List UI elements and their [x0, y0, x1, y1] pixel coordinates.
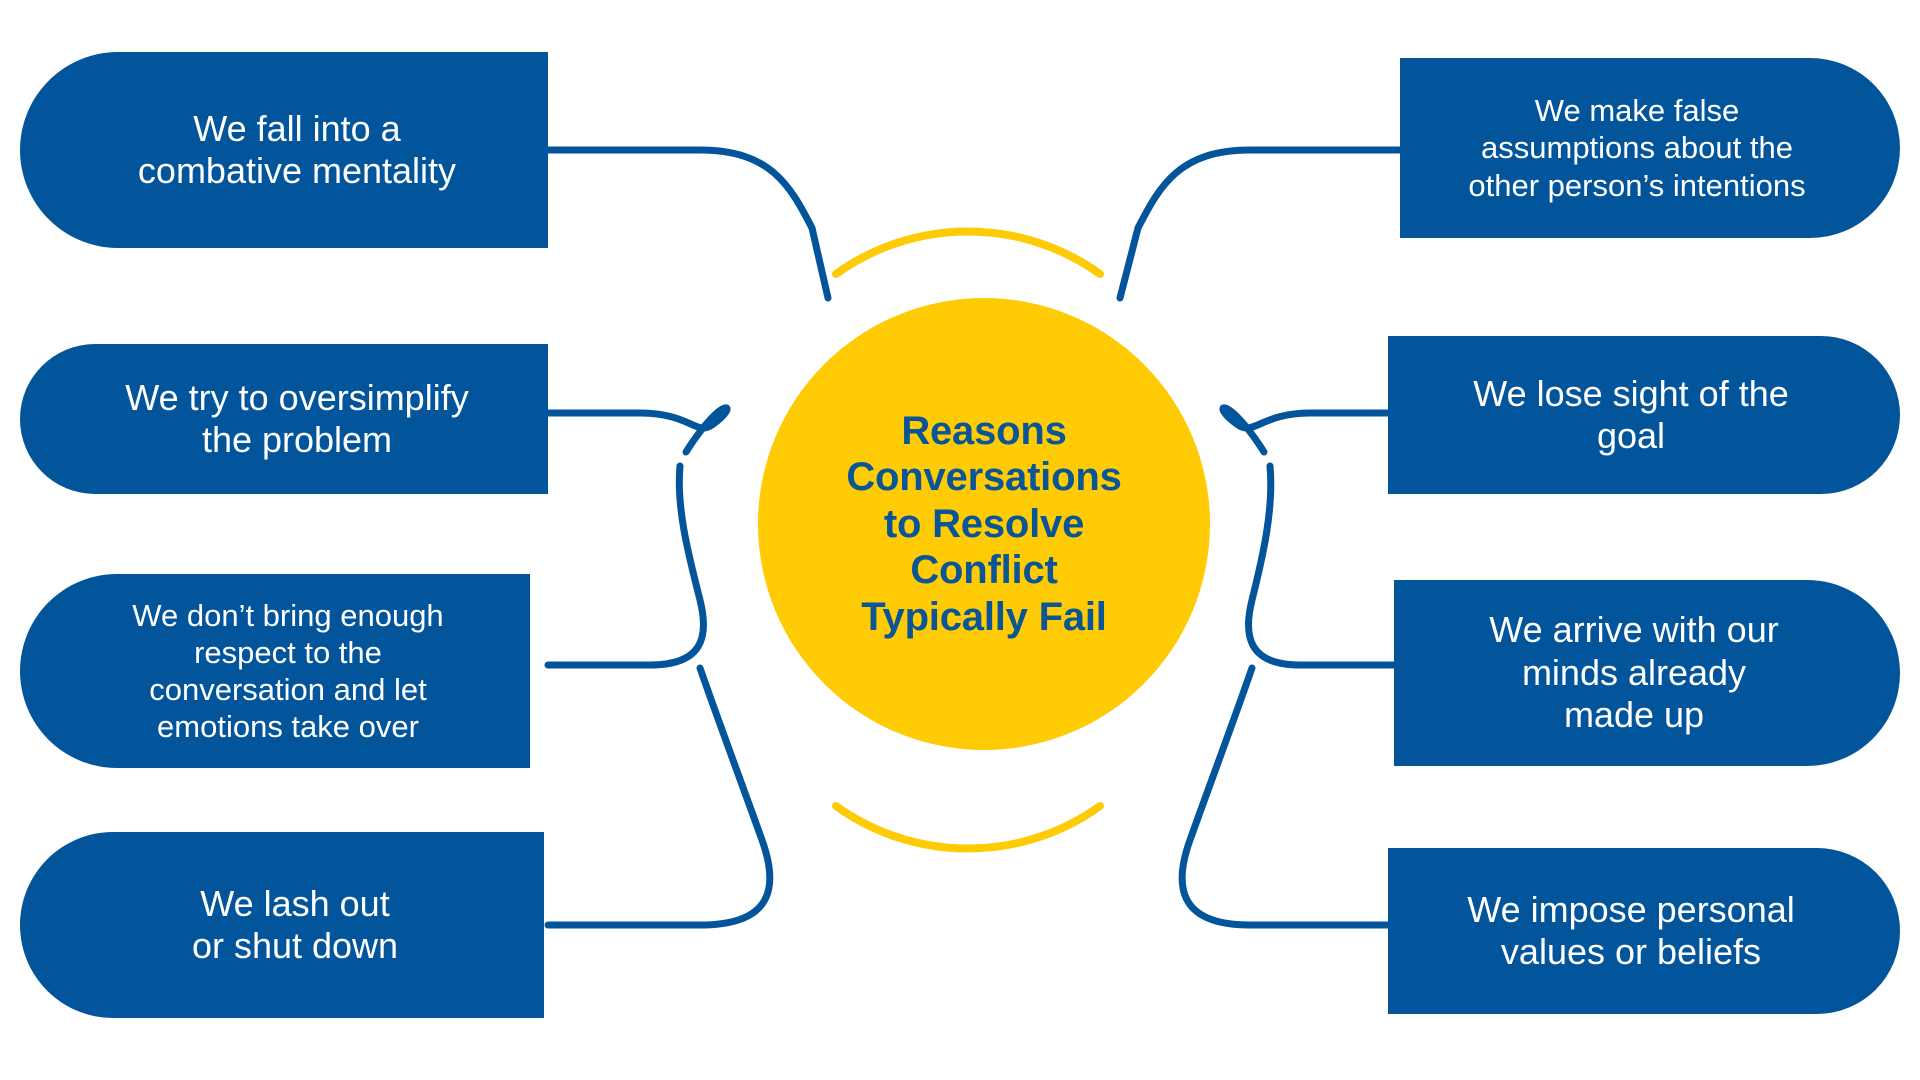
node-lash-out-shut-down[interactable]: We lash out or shut down [20, 832, 544, 1018]
center-hub: Reasons Conversations to Resolve Conflic… [758, 298, 1210, 750]
node-not-enough-respect[interactable]: We don’t bring enough respect to the con… [20, 574, 530, 768]
node-lose-sight-of-goal[interactable]: We lose sight of the goal [1388, 336, 1900, 494]
connector-left-1 [548, 150, 828, 298]
center-hub-label: Reasons Conversations to Resolve Conflic… [812, 408, 1155, 640]
connector-left-2-helper [548, 413, 732, 470]
connector-right-3 [1248, 466, 1412, 665]
node-combative-mentality[interactable]: We fall into a combative mentality [20, 52, 548, 248]
node-impose-personal-values[interactable]: We impose personal values or beliefs [1388, 848, 1900, 1014]
hub-arc-top [836, 231, 1100, 274]
connector-left-2 [548, 408, 727, 452]
node-label: We fall into a combative mentality [138, 108, 456, 193]
node-label: We impose personal values or beliefs [1467, 889, 1795, 974]
node-label: We lash out or shut down [192, 883, 398, 968]
node-oversimplify-problem[interactable]: We try to oversimplify the problem [20, 344, 548, 494]
connector-left-2b [675, 300, 686, 455]
node-false-assumptions[interactable]: We make false assumptions about the othe… [1400, 58, 1900, 238]
connector-left-3 [548, 466, 703, 665]
node-label: We don’t bring enough respect to the con… [132, 597, 443, 746]
node-label: We arrive with our minds already made up [1489, 609, 1778, 736]
diagram-canvas: Reasons Conversations to Resolve Conflic… [0, 0, 1920, 1080]
connector-right-2 [1223, 408, 1412, 452]
node-label: We try to oversimplify the problem [125, 377, 468, 462]
connector-left-4 [548, 668, 770, 925]
node-label: We make false assumptions about the othe… [1468, 92, 1805, 204]
hub-arc-bottom [836, 806, 1100, 849]
connector-right-4 [1182, 668, 1412, 925]
node-label: We lose sight of the goal [1473, 373, 1789, 458]
node-minds-already-made-up[interactable]: We arrive with our minds already made up [1394, 580, 1900, 766]
connector-right-1 [1120, 150, 1412, 298]
